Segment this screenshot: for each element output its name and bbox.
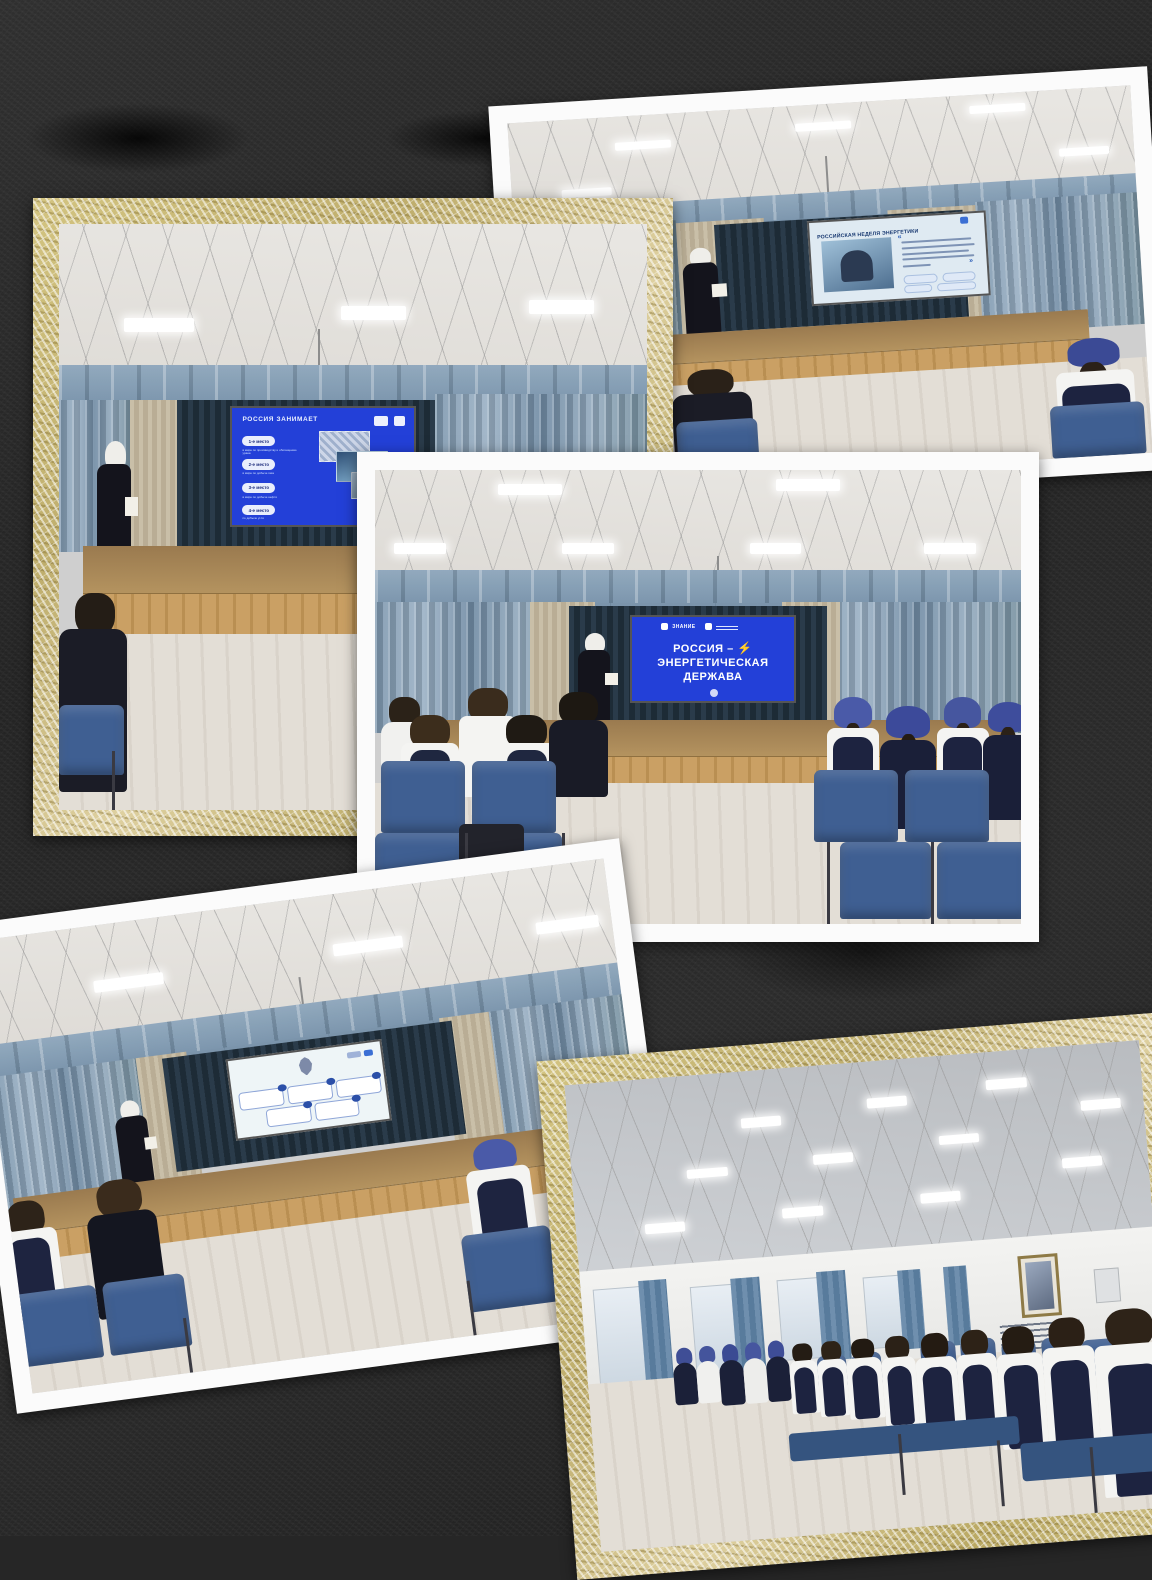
speaker-photo — [821, 238, 894, 292]
ceiling-lamp — [924, 543, 976, 554]
ministry-logo-icon — [705, 623, 712, 630]
ministry-logo-text — [716, 624, 738, 630]
auditorium-seat — [381, 761, 465, 834]
hall-scene-center: ЗНАНИЕ РОССИЯ – ⚡ ЭНЕРГЕТИЧЕСКАЯ ДЕРЖАВА — [375, 470, 1021, 924]
vest — [793, 1367, 817, 1415]
ceiling-lamp — [498, 484, 563, 496]
speaker-figure — [840, 250, 874, 283]
rank-pill: 4-е место — [242, 505, 275, 516]
diagram-step-dot — [303, 1101, 313, 1109]
russian-coat-of-arms-icon — [295, 1056, 316, 1077]
vest — [852, 1365, 881, 1419]
rank-caption: в мире по добыче газа — [242, 472, 297, 475]
slide-title: РОССИЯ ЗАНИМАЕТ — [242, 416, 317, 423]
auditorium-seat — [461, 1224, 559, 1312]
diagram-box — [238, 1087, 285, 1110]
quote-line — [902, 243, 975, 249]
stat-chip — [904, 284, 933, 294]
wall-plaque — [1093, 1267, 1121, 1304]
ceiling-lamp — [562, 543, 614, 554]
quote-open-icon: « — [897, 234, 901, 241]
rank-pill: 3-е место — [242, 483, 275, 494]
torso — [765, 1356, 791, 1403]
znanie-brand: ЗНАНИЕ — [672, 624, 695, 630]
rank-caption: по добыче угля — [242, 517, 297, 520]
projection-screen: РОССИЙСКАЯ НЕДЕЛЯ ЭНЕРГЕТИКИ « » — [807, 210, 991, 306]
auditorium-seat — [937, 842, 1021, 919]
partner-logo — [347, 1050, 361, 1058]
projection-screen: ЗНАНИЕ РОССИЯ – ⚡ ЭНЕРГЕТИЧЕСКАЯ ДЕРЖАВА — [630, 615, 796, 703]
organizer-logo — [959, 217, 968, 225]
partner-logo — [374, 416, 389, 427]
slide-title-line1: РОССИЯ – ⚡ — [632, 642, 794, 655]
slide-footer-mark-icon — [710, 689, 718, 697]
quote-line — [901, 237, 971, 243]
auditorium-seat — [101, 1273, 192, 1356]
audience-member — [549, 692, 607, 796]
slide-title-main: ЗНАНИЕ РОССИЯ – ⚡ ЭНЕРГЕТИЧЕСКАЯ ДЕРЖАВА — [632, 617, 794, 701]
rank-caption: в мире по добыче нефти — [242, 496, 297, 499]
presenter-paper — [605, 673, 617, 685]
presenter-paper — [125, 497, 138, 516]
torso — [742, 1358, 768, 1405]
seat-leg — [827, 842, 830, 924]
ministry-logo — [394, 416, 405, 427]
wall-portrait — [1017, 1253, 1062, 1318]
hall-scene-bottom-right — [565, 1040, 1152, 1552]
stat-chip — [942, 271, 976, 281]
seat-leg — [112, 751, 115, 810]
ceiling-lamp — [529, 300, 594, 313]
rank-pill: 2-е место — [242, 459, 275, 470]
diagram-step-dot — [351, 1094, 361, 1102]
znanie-mark-icon — [661, 623, 668, 630]
rank-pill: 1-е место — [242, 436, 275, 447]
ceiling-lamp — [394, 543, 446, 554]
portrait-image — [1025, 1261, 1055, 1311]
slide-quote: РОССИЙСКАЯ НЕДЕЛЯ ЭНЕРГЕТИКИ « » — [809, 212, 988, 303]
auditorium-seat — [814, 770, 898, 843]
quote-close-icon: » — [969, 257, 973, 264]
lightning-bolt-icon: ⚡ — [737, 642, 752, 655]
torso — [719, 1359, 745, 1406]
torso — [983, 735, 1021, 820]
vest — [886, 1365, 915, 1425]
diagram-step-dot — [277, 1084, 287, 1092]
torso — [673, 1362, 699, 1405]
ministry-logo — [364, 1049, 374, 1056]
vest — [822, 1366, 847, 1417]
quote-line — [902, 249, 968, 255]
quote-line — [902, 254, 974, 260]
auditorium-seat — [13, 1284, 104, 1367]
seat-leg — [931, 842, 934, 924]
auditorium-seat — [840, 842, 930, 919]
ceiling-lamp — [776, 479, 841, 491]
diagram-step-dot — [326, 1077, 336, 1085]
torso — [696, 1360, 722, 1403]
ceiling-lamp — [124, 318, 195, 332]
auditorium-seat — [472, 761, 556, 834]
presenter-paper — [711, 284, 727, 297]
stat-chip — [937, 281, 976, 292]
rank-caption: в мире по производству и обогащению уран… — [242, 449, 297, 456]
slide-header-logos: ЗНАНИЕ — [661, 623, 737, 630]
headscarf — [886, 706, 930, 738]
slide-title-line2: ЭНЕРГЕТИЧЕСКАЯ — [632, 657, 794, 669]
ceiling — [375, 470, 1021, 579]
ceiling-lamp — [341, 306, 406, 319]
torso — [549, 720, 607, 797]
ceiling-lamp — [750, 543, 802, 554]
slide-title-line3: ДЕРЖАВА — [632, 671, 794, 683]
auditorium-seat — [905, 770, 989, 843]
auditorium-seat — [1050, 402, 1147, 459]
stat-chip — [903, 274, 937, 284]
presenter-paper — [144, 1136, 158, 1150]
stage-backdrop-beige — [130, 400, 177, 547]
quote-attribution — [903, 264, 931, 268]
photo-card-bottom-right[interactable] — [537, 1012, 1152, 1580]
